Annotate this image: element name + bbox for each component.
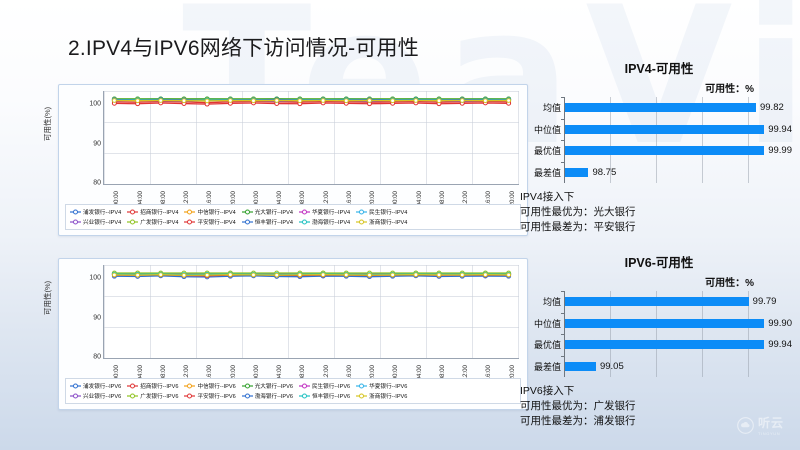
legend-item[interactable]: 恒丰银行--IPV6	[299, 392, 350, 400]
brand-text-wrap: 听云 TINGYUN	[758, 414, 784, 436]
legend-item[interactable]: 招商银行--IPV6	[127, 382, 178, 390]
table-row: 中位值99.94	[565, 119, 792, 141]
bar-category-label: 均值	[543, 295, 561, 308]
legend-item[interactable]: 渤海银行--IPV4	[299, 218, 350, 226]
legend-marker-icon	[356, 393, 367, 399]
axis-tick	[561, 140, 565, 141]
bar-chart-block-ipv4: IPV4-可用性 可用性：% 均值99.82中位值99.94最优值99.99最差…	[520, 58, 798, 235]
legend-item[interactable]: 中信银行--IPV4	[184, 208, 235, 216]
brand-name: 听云	[758, 414, 784, 431]
bar-category-label: 最优值	[534, 338, 561, 351]
bar-value-label: 99.05	[600, 361, 624, 372]
bar-value-label: 99.94	[768, 339, 792, 350]
table-row: 最差值98.75	[565, 162, 792, 184]
bar-category-label: 最优值	[534, 144, 561, 157]
legend-marker-icon	[299, 209, 310, 215]
legend-label: 浦发银行--IPV6	[83, 382, 121, 390]
legend-label: 华夏银行--IPV4	[312, 208, 350, 216]
table-row: 最差值99.05	[565, 356, 792, 378]
legend-marker-icon	[70, 383, 81, 389]
legend-item[interactable]: 民生银行--IPV4	[356, 208, 407, 216]
legend-item[interactable]: 恒丰银行--IPV4	[242, 218, 293, 226]
legend-item[interactable]: 华夏银行--IPV6	[356, 382, 407, 390]
legend-marker-icon	[184, 209, 195, 215]
bar-value-label: 98.75	[592, 167, 616, 178]
legend-item[interactable]: 中信银行--IPV6	[184, 382, 235, 390]
plot-wrap-ipv4: 可用性(%) 100 90 80 04-24 00:0004-24 04:000…	[59, 85, 527, 185]
y-axis-label-ipv6: 可用性(%)	[42, 257, 53, 315]
legend-marker-icon	[242, 393, 253, 399]
legend-item[interactable]: 浙商银行--IPV4	[356, 218, 407, 226]
legend-row: 浦发银行--IPV4招商银行--IPV4中信银行--IPV4光大银行--IPV4…	[70, 208, 516, 216]
y-tick-90-ipv6: 90	[93, 315, 101, 322]
legend-row: 兴业银行--IPV4广发银行--IPV4平安银行--IPV4恒丰银行--IPV4…	[70, 218, 516, 226]
legend-label: 广发银行--IPV6	[140, 392, 178, 400]
legend-marker-icon	[242, 209, 253, 215]
legend-marker-icon	[356, 209, 367, 215]
bar-fill[interactable]	[565, 146, 764, 155]
legend-item[interactable]: 平安银行--IPV6	[184, 392, 235, 400]
note-line-ipv4-2: 可用性最差为：平安银行	[520, 220, 798, 235]
bar-chart-unit-ipv6: 可用性：%	[520, 274, 798, 289]
legend-marker-icon	[242, 383, 253, 389]
legend-item[interactable]: 浙商银行--IPV6	[356, 392, 407, 400]
axis-tick	[561, 334, 565, 335]
legend-label: 渤海银行--IPV6	[255, 392, 293, 400]
bar-value-label: 99.82	[760, 102, 784, 113]
bar-category-label: 中位值	[534, 317, 561, 330]
bar-fill[interactable]	[565, 362, 596, 371]
plot-wrap-ipv6: 可用性(%) 100 90 80 04-24 00:0004-24 04:000…	[59, 259, 527, 359]
bar-value-label: 99.99	[768, 145, 792, 156]
legend-label: 民生银行--IPV4	[369, 208, 407, 216]
legend-ipv4: 浦发银行--IPV4招商银行--IPV4中信银行--IPV4光大银行--IPV4…	[65, 204, 521, 230]
legend-marker-icon	[127, 219, 138, 225]
bar-fill[interactable]	[565, 125, 764, 134]
bar-fill[interactable]	[565, 168, 588, 177]
legend-item[interactable]: 广发银行--IPV4	[127, 218, 178, 226]
legend-item[interactable]: 平安银行--IPV4	[184, 218, 235, 226]
legend-item[interactable]: 光大银行--IPV4	[242, 208, 293, 216]
legend-marker-icon	[127, 393, 138, 399]
legend-label: 浦发银行--IPV4	[83, 208, 121, 216]
legend-item[interactable]: 招商银行--IPV4	[127, 208, 178, 216]
line-chart-panel-ipv4: 可用性(%) 100 90 80 04-24 00:0004-24 04:000…	[58, 84, 528, 236]
legend-marker-icon	[356, 219, 367, 225]
legend-marker-icon	[184, 383, 195, 389]
brand-sub: TINGYUN	[758, 431, 784, 436]
legend-marker-icon	[299, 393, 310, 399]
axis-tick	[561, 97, 565, 98]
legend-marker-icon	[70, 393, 81, 399]
line-chart-panel-ipv6: 可用性(%) 100 90 80 04-24 00:0004-24 04:000…	[58, 258, 528, 410]
bar-value-label: 99.79	[753, 296, 777, 307]
bar-fill[interactable]	[565, 103, 756, 112]
bar-category-label: 最差值	[534, 166, 561, 179]
y-tick-100-ipv6: 100	[89, 275, 101, 282]
axis-tick	[561, 291, 565, 292]
legend-label: 招商银行--IPV4	[140, 208, 178, 216]
legend-marker-icon	[70, 209, 81, 215]
legend-label: 光大银行--IPV6	[255, 382, 293, 390]
legend-label: 恒丰银行--IPV6	[312, 392, 350, 400]
legend-label: 浙商银行--IPV4	[369, 218, 407, 226]
legend-item[interactable]: 光大银行--IPV6	[242, 382, 293, 390]
axis-tick	[561, 162, 565, 163]
series-lines-ipv6	[104, 265, 519, 358]
note-line-ipv6-1: 可用性最优为：广发银行	[520, 399, 798, 414]
note-line-ipv6-0: IPV6接入下	[520, 384, 798, 399]
legend-item[interactable]: 浦发银行--IPV6	[70, 382, 121, 390]
brand-watermark: 听云 TINGYUN	[737, 414, 784, 436]
series-lines-ipv4	[104, 91, 519, 184]
plot-area-ipv4: 100 90 80	[103, 91, 519, 185]
bar-fill[interactable]	[565, 297, 749, 306]
legend-marker-icon	[127, 383, 138, 389]
legend-marker-icon	[242, 219, 253, 225]
legend-marker-icon	[299, 219, 310, 225]
axis-tick	[561, 119, 565, 120]
note-line-ipv4-1: 可用性最优为：光大银行	[520, 205, 798, 220]
legend-marker-icon	[184, 393, 195, 399]
axis-tick	[561, 356, 565, 357]
bar-category-label: 均值	[543, 101, 561, 114]
legend-label: 兴业银行--IPV4	[83, 218, 121, 226]
legend-item[interactable]: 浦发银行--IPV4	[70, 208, 121, 216]
legend-marker-icon	[70, 219, 81, 225]
bar-chart-unit-ipv4: 可用性：%	[520, 80, 798, 95]
legend-label: 平安银行--IPV6	[197, 392, 235, 400]
legend-item[interactable]: 渤海银行--IPV6	[242, 392, 293, 400]
bar-category-label: 最差值	[534, 360, 561, 373]
bar-chart-plot-ipv4: 均值99.82中位值99.94最优值99.99最差值98.75	[564, 97, 792, 183]
legend-label: 中信银行--IPV6	[197, 382, 235, 390]
legend-label: 华夏银行--IPV6	[369, 382, 407, 390]
legend-label: 民生银行--IPV6	[312, 382, 350, 390]
y-tick-80-ipv4: 80	[93, 180, 101, 187]
note-ipv4: IPV4接入下 可用性最优为：光大银行 可用性最差为：平安银行	[520, 190, 798, 235]
axis-tick	[561, 313, 565, 314]
legend-row: 浦发银行--IPV6招商银行--IPV6中信银行--IPV6光大银行--IPV6…	[70, 382, 516, 390]
bar-value-label: 99.94	[768, 124, 792, 135]
legend-item[interactable]: 民生银行--IPV6	[299, 382, 350, 390]
legend-label: 浙商银行--IPV6	[369, 392, 407, 400]
plot-area-ipv6: 100 90 80	[103, 265, 519, 359]
bar-value-label: 99.90	[768, 318, 792, 329]
legend-label: 招商银行--IPV6	[140, 382, 178, 390]
cloud-icon	[737, 417, 754, 434]
bar-fill[interactable]	[565, 319, 764, 328]
y-tick-90-ipv4: 90	[93, 141, 101, 148]
legend-item[interactable]: 广发银行--IPV6	[127, 392, 178, 400]
legend-marker-icon	[127, 209, 138, 215]
table-row: 最优值99.99	[565, 140, 792, 162]
legend-label: 中信银行--IPV4	[197, 208, 235, 216]
legend-label: 恒丰银行--IPV4	[255, 218, 293, 226]
bar-chart-title-ipv4: IPV4-可用性	[520, 58, 798, 77]
legend-row: 兴业银行--IPV6广发银行--IPV6平安银行--IPV6渤海银行--IPV6…	[70, 392, 516, 400]
legend-marker-icon	[356, 383, 367, 389]
legend-label: 广发银行--IPV4	[140, 218, 178, 226]
page-title: 2.IPV4与IPV6网络下访问情况-可用性	[68, 32, 419, 62]
legend-label: 兴业银行--IPV6	[83, 392, 121, 400]
bar-chart-block-ipv6: IPV6-可用性 可用性：% 均值99.79中位值99.90最优值99.94最差…	[520, 252, 798, 429]
legend-marker-icon	[299, 383, 310, 389]
note-line-ipv4-0: IPV4接入下	[520, 190, 798, 205]
legend-item[interactable]: 兴业银行--IPV4	[70, 218, 121, 226]
bar-chart-plot-ipv6: 均值99.79中位值99.90最优值99.94最差值99.05	[564, 291, 792, 377]
y-axis-label-ipv4: 可用性(%)	[42, 83, 53, 141]
y-tick-100-ipv4: 100	[89, 101, 101, 108]
legend-label: 渤海银行--IPV4	[312, 218, 350, 226]
table-row: 均值99.79	[565, 291, 792, 313]
table-row: 最优值99.94	[565, 334, 792, 356]
y-tick-80-ipv6: 80	[93, 354, 101, 361]
legend-label: 平安银行--IPV4	[197, 218, 235, 226]
bar-fill[interactable]	[565, 340, 764, 349]
bar-category-label: 中位值	[534, 123, 561, 136]
legend-label: 光大银行--IPV4	[255, 208, 293, 216]
table-row: 均值99.82	[565, 97, 792, 119]
legend-ipv6: 浦发银行--IPV6招商银行--IPV6中信银行--IPV6光大银行--IPV6…	[65, 378, 521, 404]
table-row: 中位值99.90	[565, 313, 792, 335]
legend-item[interactable]: 华夏银行--IPV4	[299, 208, 350, 216]
legend-marker-icon	[184, 219, 195, 225]
bar-chart-title-ipv6: IPV6-可用性	[520, 252, 798, 271]
legend-item[interactable]: 兴业银行--IPV6	[70, 392, 121, 400]
